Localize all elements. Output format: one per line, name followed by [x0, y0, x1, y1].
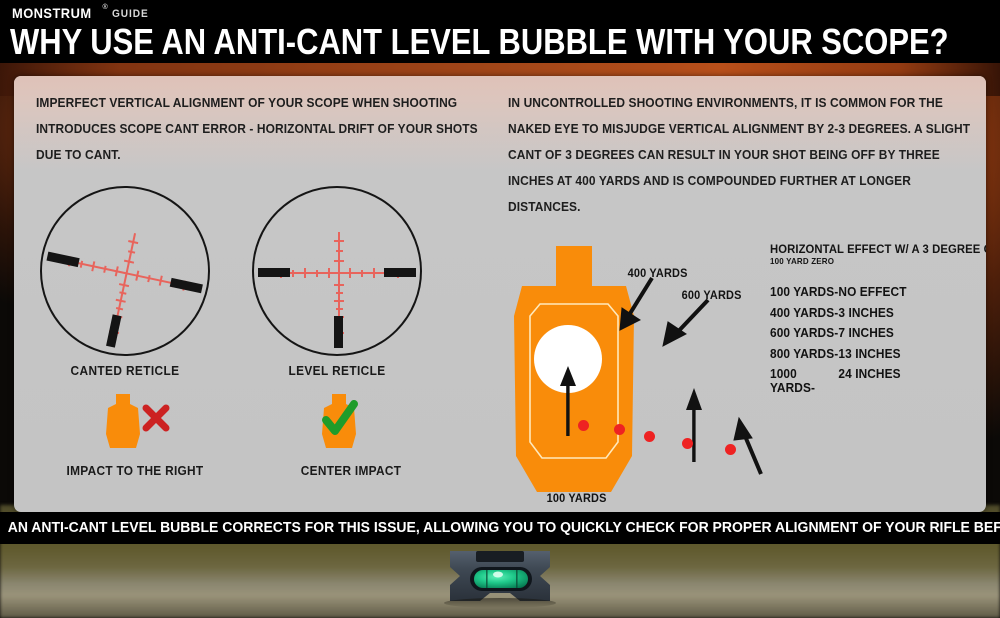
callout-label-600: 600 YARDS	[682, 290, 742, 302]
reticle-tick	[336, 292, 343, 294]
table-row: 100 YARDS- NO EFFECT	[770, 285, 974, 299]
silhouette-target-icon	[306, 388, 426, 463]
horizontal-effect-table: HORIZONTAL EFFECT W/ A 3 DEGREE CANT 100…	[770, 242, 985, 402]
table-cell-distance: 800 YARDS-	[770, 347, 838, 361]
registered-trademark-icon: ®	[102, 4, 107, 11]
footer-banner: AN ANTI-CANT LEVEL BUBBLE CORRECTS FOR T…	[0, 512, 1000, 544]
page-title: WHY USE AN ANTI-CANT LEVEL BUBBLE WITH Y…	[10, 22, 949, 62]
reticle-crosshair-canted	[40, 186, 210, 356]
reticle-tick	[328, 268, 330, 278]
reticle-tick	[349, 268, 351, 278]
x-mark-icon	[146, 408, 166, 428]
reticle-tick	[334, 260, 344, 262]
reticle-tick	[334, 240, 344, 242]
impact-right-caption: IMPACT TO THE RIGHT	[45, 464, 226, 478]
callout-label-100: 100 YARDS	[547, 493, 607, 505]
reticle-post-right	[384, 268, 416, 277]
table-row: 1000 YARDS- 24 INCHES	[770, 367, 974, 395]
header-bar: MONSTRUM ® GUIDE WHY USE AN ANTI-CANT LE…	[0, 0, 1000, 63]
shot-dot-1000	[725, 444, 736, 455]
reticle-tick	[334, 284, 344, 286]
shot-dot-600	[644, 431, 655, 442]
table-title: HORIZONTAL EFFECT W/ A 3 DEGREE CANT	[770, 242, 972, 256]
reticle-tick	[304, 268, 306, 278]
table-row: 400 YARDS- 3 INCHES	[770, 306, 974, 320]
reticle-tick	[361, 270, 363, 277]
level-graduation-line	[516, 570, 518, 588]
table-cell-effect: 13 INCHES	[838, 347, 900, 361]
reticle-post-bottom	[106, 314, 121, 347]
canted-reticle-diagram: CANTED RETICLE	[40, 186, 210, 386]
level-graduation-line	[486, 570, 488, 588]
target-head	[556, 246, 592, 286]
target-silhouette-svg	[496, 246, 786, 506]
level-reticle-diagram: LEVEL RETICLE	[252, 186, 422, 386]
reticle-tick	[316, 270, 318, 277]
reticle-tick	[336, 308, 343, 310]
reticle-post-right	[170, 278, 203, 293]
table-cell-effect: 24 INCHES	[838, 367, 900, 395]
level-bubble-highlight	[493, 572, 503, 578]
impact-right-example: IMPACT TO THE RIGHT	[90, 388, 160, 488]
level-drop-shadow	[444, 598, 556, 608]
callout-arrow-1000	[734, 418, 761, 474]
reticle-tick	[334, 300, 344, 302]
table-rows: 100 YARDS- NO EFFECT 400 YARDS- 3 INCHES…	[770, 285, 985, 395]
callout-label-400: 400 YARDS	[628, 268, 688, 280]
reticle-post-bottom	[334, 316, 343, 348]
table-cell-distance: 1000 YARDS-	[770, 367, 838, 395]
content-panel: IMPERFECT VERTICAL ALIGNMENT OF YOUR SCO…	[14, 76, 986, 512]
anti-cant-bubble-level-photo	[424, 543, 576, 609]
brand-subtitle: GUIDE	[112, 8, 149, 20]
reticle-post-left	[258, 268, 290, 277]
footer-text: AN ANTI-CANT LEVEL BUBBLE CORRECTS FOR T…	[0, 520, 1000, 536]
callout-arrow-600	[663, 300, 708, 346]
shot-dot-400	[614, 424, 625, 435]
reticle-tick	[292, 270, 294, 277]
intro-paragraph-right: IN UNCONTROLLED SHOOTING ENVIRONMENTS, I…	[508, 90, 983, 220]
reticle-tick	[373, 268, 375, 278]
table-row: 600 YARDS- 7 INCHES	[770, 326, 974, 340]
canted-reticle-caption: CANTED RETICLE	[44, 364, 206, 378]
shot-dispersion-diagram: 400 YARDS 600 YARDS 100 YARDS 800 YARDS …	[496, 246, 786, 506]
table-cell-effect: 7 INCHES	[838, 326, 894, 340]
reticle-post-left	[46, 252, 79, 267]
shot-dot-800	[682, 438, 693, 449]
table-cell-distance: 600 YARDS-	[770, 326, 838, 340]
center-impact-example: CENTER IMPACT	[306, 388, 376, 488]
silhouette-target-icon	[90, 388, 210, 463]
level-reticle-caption: LEVEL RETICLE	[256, 364, 418, 378]
scope-circle-canted	[40, 186, 210, 356]
center-impact-caption: CENTER IMPACT	[261, 464, 442, 478]
table-cell-effect: NO EFFECT	[838, 285, 906, 299]
brand-logo: MONSTRUM ® GUIDE	[12, 5, 151, 21]
table-subtitle: 100 YARD ZERO	[770, 256, 972, 266]
reticle-crosshair-level	[254, 188, 420, 354]
reticle-tick	[336, 250, 343, 252]
level-top-recess	[476, 551, 524, 562]
table-row: 800 YARDS- 13 INCHES	[770, 347, 974, 361]
table-cell-effect: 3 INCHES	[838, 306, 894, 320]
scope-circle-level	[252, 186, 422, 356]
table-cell-distance: 400 YARDS-	[770, 306, 838, 320]
brand-name: MONSTRUM	[12, 5, 92, 21]
callout-arrow-800	[686, 388, 702, 462]
intro-paragraph-left: IMPERFECT VERTICAL ALIGNMENT OF YOUR SCO…	[36, 90, 492, 168]
shot-dot-100	[578, 420, 589, 431]
table-cell-distance: 100 YARDS-	[770, 285, 838, 299]
